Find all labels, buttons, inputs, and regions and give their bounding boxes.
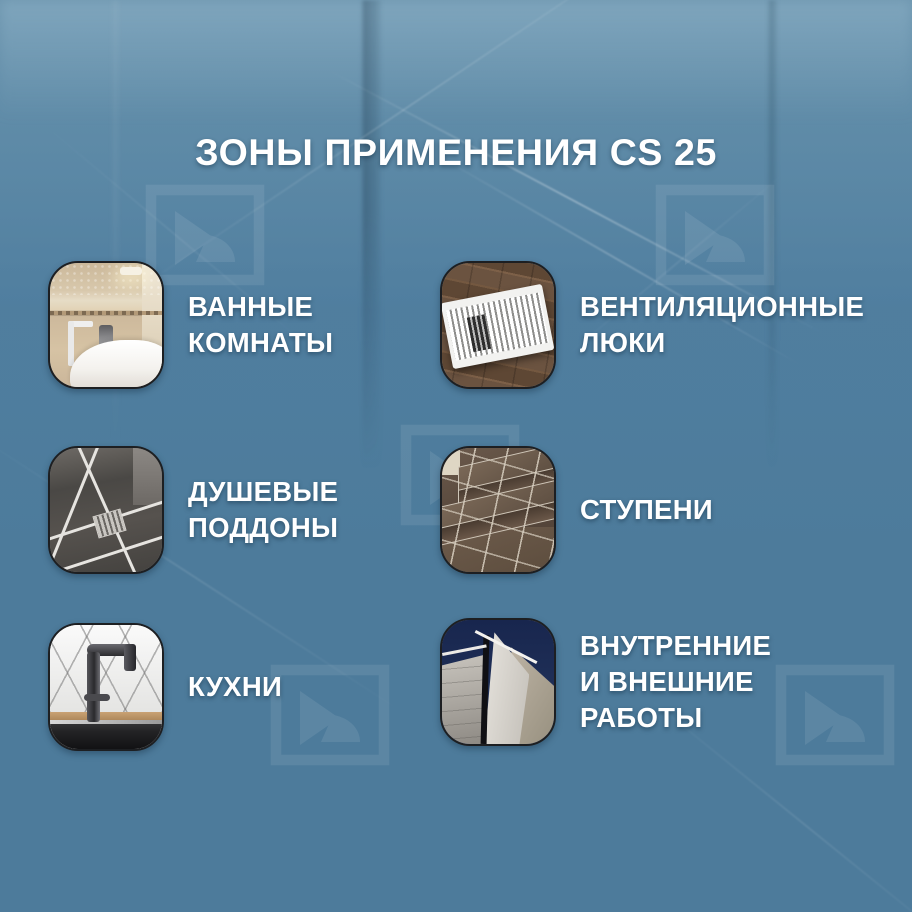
label-line: ВНУТРЕННИЕ	[580, 628, 771, 664]
zone-label-kitchens: КУХНИ	[188, 669, 282, 705]
label-line: И ВНЕШНИЕ	[580, 664, 771, 700]
label-line: ДУШЕВЫЕ	[188, 474, 338, 510]
label-line: ВЕНТИЛЯЦИОННЫЕ	[580, 289, 864, 325]
zone-label-ventilation-hatches: ВЕНТИЛЯЦИОННЫЕ ЛЮКИ	[580, 289, 864, 362]
zone-item-interior-exterior-works[interactable]: ВНУТРЕННИЕ И ВНЕШНИЕ РАБОТЫ	[440, 618, 771, 746]
label-line: ЛЮКИ	[580, 325, 864, 361]
label-line: СТУПЕНИ	[580, 492, 713, 528]
label-line: ПОДДОНЫ	[188, 510, 338, 546]
zone-item-steps[interactable]: СТУПЕНИ	[440, 446, 713, 574]
zone-label-steps: СТУПЕНИ	[580, 492, 713, 528]
building-facade-photo	[440, 618, 556, 746]
label-line: КУХНИ	[188, 669, 282, 705]
zone-label-interior-exterior-works: ВНУТРЕННИЕ И ВНЕШНИЕ РАБОТЫ	[580, 628, 771, 737]
tiled-stairs-photo	[440, 446, 556, 574]
kitchen-photo	[48, 623, 164, 751]
ventilation-grille-photo	[440, 261, 556, 389]
label-line: РАБОТЫ	[580, 700, 771, 736]
label-line: ВАННЫЕ	[188, 289, 333, 325]
zone-label-shower-trays: ДУШЕВЫЕ ПОДДОНЫ	[188, 474, 338, 547]
zone-label-bathrooms: ВАННЫЕ КОМНАТЫ	[188, 289, 333, 362]
zone-item-bathrooms[interactable]: ВАННЫЕ КОМНАТЫ	[48, 261, 333, 389]
infographic-page: ЗОНЫ ПРИМЕНЕНИЯ CS 25 ВАННЫЕ КОМНАТЫ	[0, 0, 912, 912]
application-zones-grid: ВАННЫЕ КОМНАТЫ ВЕНТИЛЯЦИОННЫЕ ЛЮКИ	[0, 0, 912, 912]
zone-item-kitchens[interactable]: КУХНИ	[48, 623, 282, 751]
label-line: КОМНАТЫ	[188, 325, 333, 361]
zone-item-shower-trays[interactable]: ДУШЕВЫЕ ПОДДОНЫ	[48, 446, 338, 574]
zone-item-ventilation-hatches[interactable]: ВЕНТИЛЯЦИОННЫЕ ЛЮКИ	[440, 261, 864, 389]
shower-tray-photo	[48, 446, 164, 574]
bathroom-photo	[48, 261, 164, 389]
